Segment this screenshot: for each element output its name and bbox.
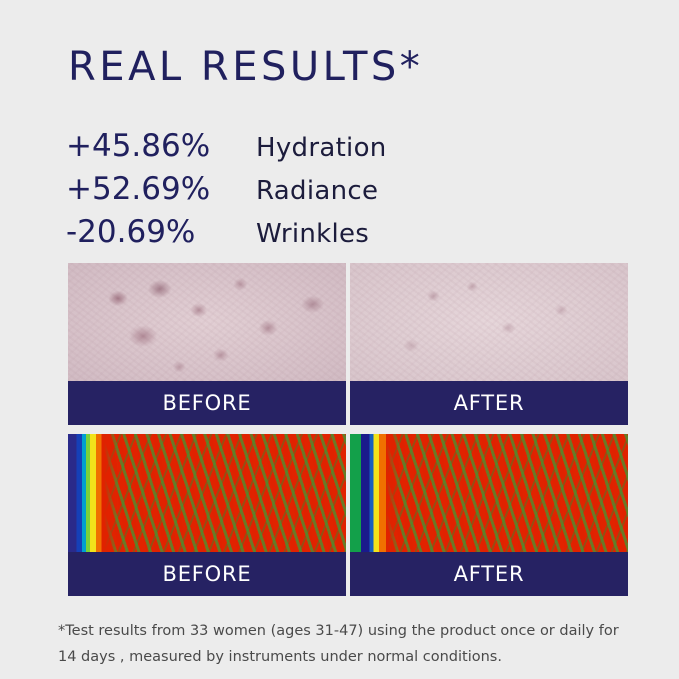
stat-row: +45.86% Hydration <box>66 128 606 171</box>
stat-value-hydration: +45.86% <box>66 128 256 164</box>
thermal-after-label: AFTER <box>350 552 628 596</box>
skin-texture-overlay <box>68 263 346 381</box>
stat-row: -20.69% Wrinkles <box>66 214 606 257</box>
thermal-map-comparison: BEFORE AFTER <box>68 434 628 596</box>
thermal-speckle-overlay <box>350 434 628 552</box>
thermal-map-images <box>68 434 628 552</box>
skin-texture-images <box>68 263 628 381</box>
thermal-label-bar: BEFORE AFTER <box>68 552 628 596</box>
stat-value-radiance: +52.69% <box>66 171 256 207</box>
skin-before-image <box>68 263 346 381</box>
skin-after-label: AFTER <box>350 381 628 425</box>
skin-texture-comparison: BEFORE AFTER <box>68 263 628 425</box>
stat-label-radiance: Radiance <box>256 176 378 206</box>
stat-label-wrinkles: Wrinkles <box>256 219 369 249</box>
thermal-before-label: BEFORE <box>68 552 346 596</box>
skin-label-bar: BEFORE AFTER <box>68 381 628 425</box>
stat-row: +52.69% Radiance <box>66 171 606 214</box>
thermal-after-image <box>350 434 628 552</box>
thermal-before-image <box>68 434 346 552</box>
skin-before-label: BEFORE <box>68 381 346 425</box>
thermal-speckle-overlay <box>68 434 346 552</box>
skin-after-image <box>350 263 628 381</box>
footnote: *Test results from 33 women (ages 31-47)… <box>58 618 630 670</box>
comparison-panels: BEFORE AFTER BEFORE AFTER <box>68 263 628 605</box>
stats-list: +45.86% Hydration +52.69% Radiance -20.6… <box>66 128 606 257</box>
stat-value-wrinkles: -20.69% <box>66 214 256 250</box>
skin-texture-overlay <box>350 263 628 381</box>
page-title: REAL RESULTS* <box>68 44 423 90</box>
results-infographic: REAL RESULTS* +45.86% Hydration +52.69% … <box>0 0 679 679</box>
stat-label-hydration: Hydration <box>256 133 387 163</box>
